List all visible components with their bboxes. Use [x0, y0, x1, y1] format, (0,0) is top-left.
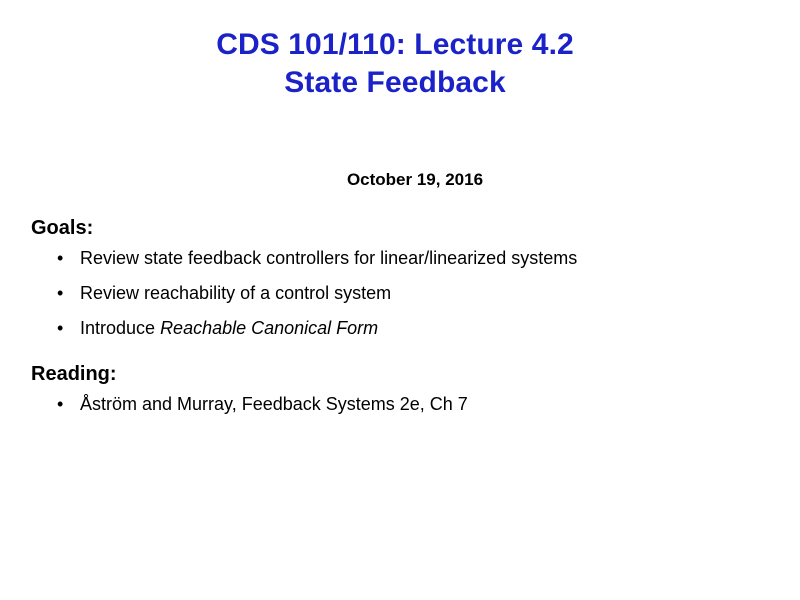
list-item-label: Introduce Reachable Canonical Form	[80, 318, 378, 338]
slide-body: Goals: • Review state feedback controlle…	[31, 215, 771, 415]
title-line-1: CDS 101/110: Lecture 4.2	[0, 26, 790, 64]
list-item-label: Review reachability of a control system	[80, 283, 391, 303]
list-item-label-emphasis: Reachable Canonical Form	[160, 318, 378, 338]
slide-date: October 19, 2016	[0, 169, 800, 190]
bullet-icon: •	[57, 282, 63, 304]
reading-heading: Reading:	[31, 361, 771, 387]
goals-bullet-list: • Review state feedback controllers for …	[31, 247, 771, 339]
list-item: • Åström and Murray, Feedback Systems 2e…	[31, 393, 771, 415]
slide-title: CDS 101/110: Lecture 4.2 State Feedback	[0, 26, 790, 102]
bullet-icon: •	[57, 317, 63, 339]
list-item: • Introduce Reachable Canonical Form	[31, 317, 771, 339]
list-item: • Review reachability of a control syste…	[31, 282, 771, 304]
list-item-label: Åström and Murray, Feedback Systems 2e, …	[80, 394, 468, 414]
date-text: October 19, 2016	[0, 169, 800, 190]
list-item-label-plain: Introduce	[80, 318, 160, 338]
list-item-label: Review state feedback controllers for li…	[80, 248, 577, 268]
title-line-2: State Feedback	[0, 64, 790, 102]
bullet-icon: •	[57, 393, 63, 415]
bullet-icon: •	[57, 247, 63, 269]
slide-canvas: CDS 101/110: Lecture 4.2 State Feedback …	[0, 0, 800, 600]
goals-heading: Goals:	[31, 215, 771, 241]
list-item: • Review state feedback controllers for …	[31, 247, 771, 269]
reading-bullet-list: • Åström and Murray, Feedback Systems 2e…	[31, 393, 771, 415]
